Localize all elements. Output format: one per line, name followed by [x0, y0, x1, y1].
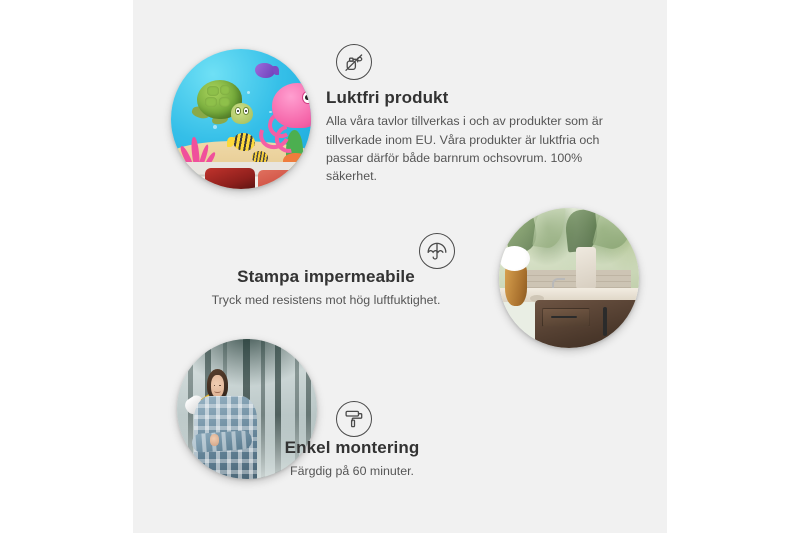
feature-description: Alla våra tavlor tillverkas i och av pro…: [326, 112, 621, 185]
feature-copy-waterproof-print: Stampa impermeabile Tryck med resistens …: [161, 266, 491, 310]
fish-purple-icon: [255, 63, 275, 78]
flower-icon: [499, 246, 530, 271]
product-benefits-infographic: Luktfri produkt Alla våra tavlor tillver…: [0, 0, 800, 533]
feature-description: Tryck med resistens mot hög luftfuktighe…: [161, 291, 491, 309]
feature-description: Färgdig på 60 minuter.: [207, 462, 497, 480]
easy-mounting-badge: [336, 401, 372, 437]
turtle-icon: [191, 80, 253, 133]
feature-image-waterproof-print: [499, 208, 639, 348]
odour-free-badge: [336, 44, 372, 80]
shelf-strip: [171, 162, 311, 189]
umbrella-icon: [425, 239, 449, 263]
feature-copy-easy-mounting: Enkel montering Färgdig på 60 minuter.: [207, 437, 497, 481]
octopus-icon: [258, 83, 311, 156]
perfume-bottle-crossed-out-icon: [342, 50, 366, 74]
feature-title: Stampa impermeabile: [161, 266, 491, 287]
mirror: [576, 247, 596, 289]
feature-title: Luktfri produkt: [326, 87, 621, 108]
bathroom-scene: [499, 208, 639, 348]
waterproof-badge: [419, 233, 455, 269]
underwater-scene: [171, 49, 311, 189]
feature-title: Enkel montering: [207, 437, 497, 458]
feature-image-odour-free: [171, 49, 311, 189]
content-panel: Luktfri produkt Alla våra tavlor tillver…: [133, 0, 667, 533]
feature-copy-odour-free: Luktfri produkt Alla våra tavlor tillver…: [326, 87, 621, 186]
paint-roller-icon: [342, 407, 366, 431]
vanity-cabinet: [535, 300, 639, 348]
fish-yellow-icon: [233, 133, 255, 151]
